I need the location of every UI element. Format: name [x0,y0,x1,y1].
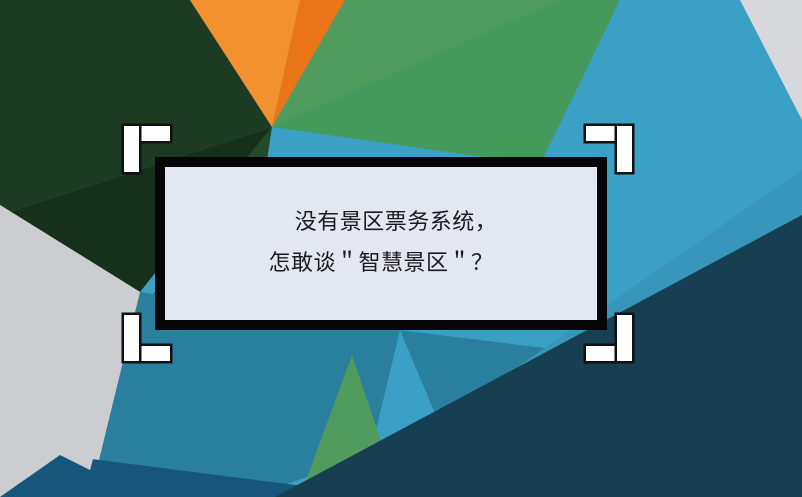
bracket-arm-vertical [124,315,139,361]
quote-frame: 没有景区票务系统， 怎敢谈＂智慧景区＂？ [155,157,607,330]
bracket-arm-vertical [124,126,139,172]
quote-line-1: 没有景区票务系统， [265,203,498,243]
slide-canvas: 没有景区票务系统， 怎敢谈＂智慧景区＂？ [0,0,802,497]
bracket-arm-vertical [617,126,632,172]
bracket-arm-vertical [617,315,632,361]
quote-panel: 没有景区票务系统， 怎敢谈＂智慧景区＂？ [165,167,597,320]
quote-line-2: 怎敢谈＂智慧景区＂？ [268,244,493,284]
